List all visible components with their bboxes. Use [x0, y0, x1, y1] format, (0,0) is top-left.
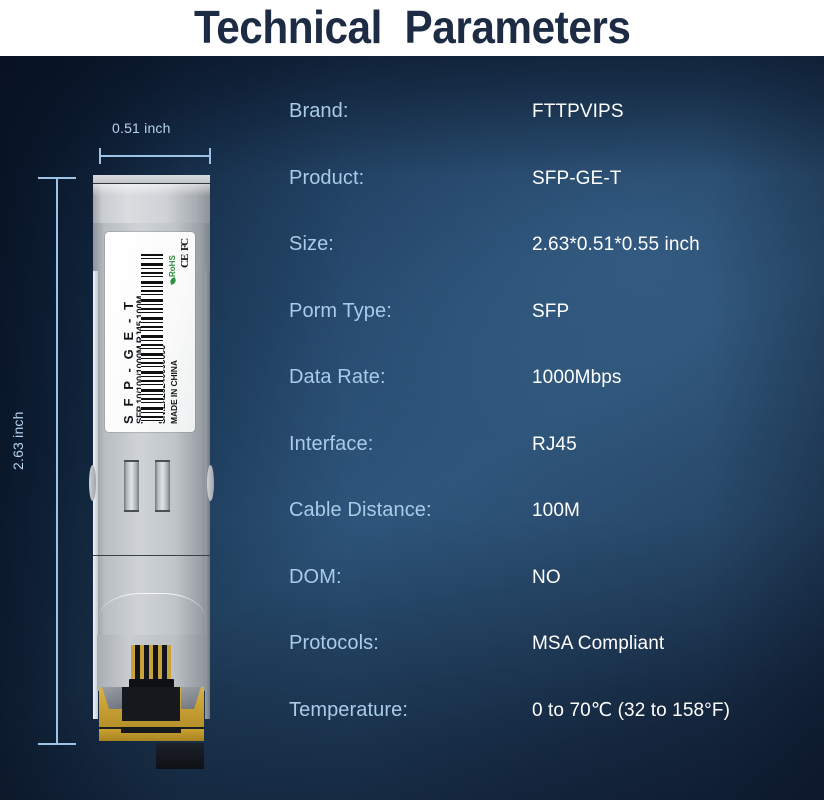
spec-row: Interface:RJ45: [289, 433, 799, 500]
dimension-height-line: [56, 178, 58, 744]
dimension-height-cap-bottom: [38, 743, 76, 745]
product-spec-page: Technical Parameters 0.51 inch 2.63 inch…: [0, 0, 824, 800]
spec-label: Temperature:: [289, 699, 532, 722]
label-origin-text: MADE IN CHINA: [169, 360, 179, 424]
sfp-product-label: S F P - G E - T SFP 10/100/1000M RJ45 10…: [105, 232, 195, 432]
label-model-text: S F P - G E - T: [121, 299, 136, 424]
spec-row: Cable Distance:100M: [289, 499, 799, 566]
rohs-icon: RoHS: [168, 255, 177, 284]
spec-row: Brand:FTTPVIPS: [289, 100, 799, 167]
ce-mark-icon: CE: [179, 255, 191, 268]
spec-label: Data Rate:: [289, 366, 532, 389]
rj45-foot-recess: [121, 727, 181, 733]
spec-label: Product:: [289, 167, 532, 190]
sfp-body-seam: [93, 555, 210, 556]
spec-row: Size:2.63*0.51*0.55 inch: [289, 233, 799, 300]
spec-value: 100M: [532, 500, 580, 522]
rj45-gold-pins: [131, 645, 171, 679]
sfp-module-image: S F P - G E - T SFP 10/100/1000M RJ45 10…: [93, 175, 210, 745]
sfp-bezel: [93, 183, 210, 224]
spec-value: 0 to 70℃ (32 to 158°F): [532, 699, 730, 722]
spec-value: 2.63*0.51*0.55 inch: [532, 234, 700, 256]
dimension-width-cap-right: [209, 148, 211, 164]
rohs-label: RoHS: [168, 255, 177, 277]
spec-value: NO: [532, 567, 561, 589]
page-title: Technical Parameters: [194, 4, 631, 50]
sfp-ear-right: [207, 465, 214, 501]
dimension-height-label: 2.63 inch: [10, 411, 26, 470]
spec-row: DOM:NO: [289, 566, 799, 633]
dimension-width-line: [99, 155, 211, 157]
rj45-notch: [122, 687, 180, 721]
title-band: Technical Parameters: [0, 0, 824, 56]
spec-row: Data Rate:1000Mbps: [289, 366, 799, 433]
sfp-vent-slot-2: [155, 460, 170, 512]
spec-value: FTTPVIPS: [532, 101, 624, 123]
spec-label: DOM:: [289, 566, 532, 589]
spec-row: Porm Type:SFP: [289, 300, 799, 367]
spec-value: SFP-GE-T: [532, 168, 621, 190]
spec-value: 1000Mbps: [532, 367, 622, 389]
sfp-vent-slot-1: [124, 460, 139, 512]
fc-mark-icon: FC: [179, 240, 191, 251]
sfp-bezel-sheen: [93, 184, 210, 196]
spec-label: Brand:: [289, 100, 532, 123]
spec-value: RJ45: [532, 434, 577, 456]
dimension-width-cap-left: [99, 148, 101, 164]
sfp-ear-left: [89, 465, 96, 501]
rj45-connector: [93, 635, 210, 745]
dimension-height-cap-top: [38, 177, 76, 179]
spec-table: Brand:FTTPVIPSProduct:SFP-GE-TSize:2.63*…: [289, 100, 799, 765]
spec-row: Product:SFP-GE-T: [289, 167, 799, 234]
barcode-icon: [141, 254, 163, 422]
spec-value: MSA Compliant: [532, 633, 664, 655]
spec-row: Protocols:MSA Compliant: [289, 632, 799, 699]
spec-label: Protocols:: [289, 632, 532, 655]
dimension-width-label: 0.51 inch: [112, 120, 171, 136]
spec-label: Size:: [289, 233, 532, 256]
rj45-notch-inner: [156, 743, 204, 769]
spec-row: Temperature:0 to 70℃ (32 to 158°F): [289, 699, 799, 766]
spec-label: Interface:: [289, 433, 532, 456]
spec-label: Cable Distance:: [289, 499, 532, 522]
spec-label: Porm Type:: [289, 300, 532, 323]
spec-value: SFP: [532, 301, 569, 323]
sfp-top-cap: [93, 175, 210, 183]
